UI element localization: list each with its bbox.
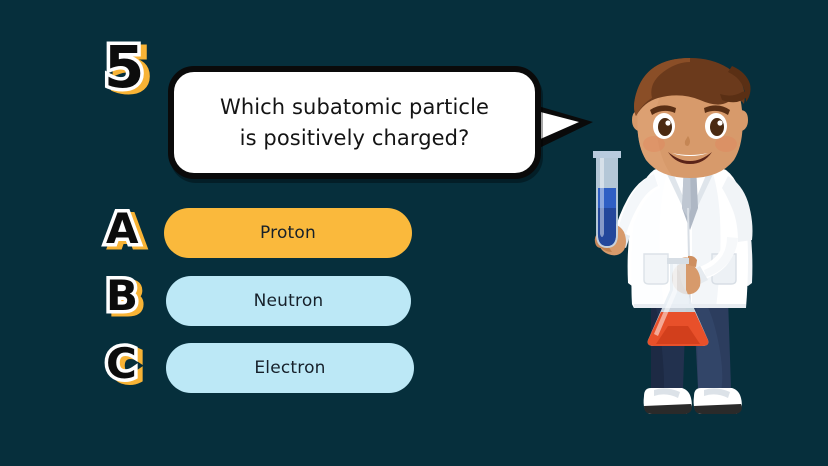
test-tube-blue-icon <box>593 151 621 248</box>
question-speech-bubble: Which subatomic particle is positively c… <box>168 66 541 179</box>
option-button-a[interactable]: Proton <box>164 208 412 258</box>
question-text-line-1: Which subatomic particle <box>220 95 489 119</box>
quiz-slide: 5 5 Which subatomic particle is positive… <box>0 0 828 466</box>
boy-scientist-character <box>588 58 820 430</box>
white-sneakers <box>644 388 742 414</box>
head <box>634 58 751 178</box>
question-text-line-2: is positively charged? <box>240 126 470 150</box>
question-number-badge: 5 <box>104 38 144 96</box>
option-button-b[interactable]: Neutron <box>166 276 411 326</box>
option-button-c[interactable]: Electron <box>166 343 414 393</box>
